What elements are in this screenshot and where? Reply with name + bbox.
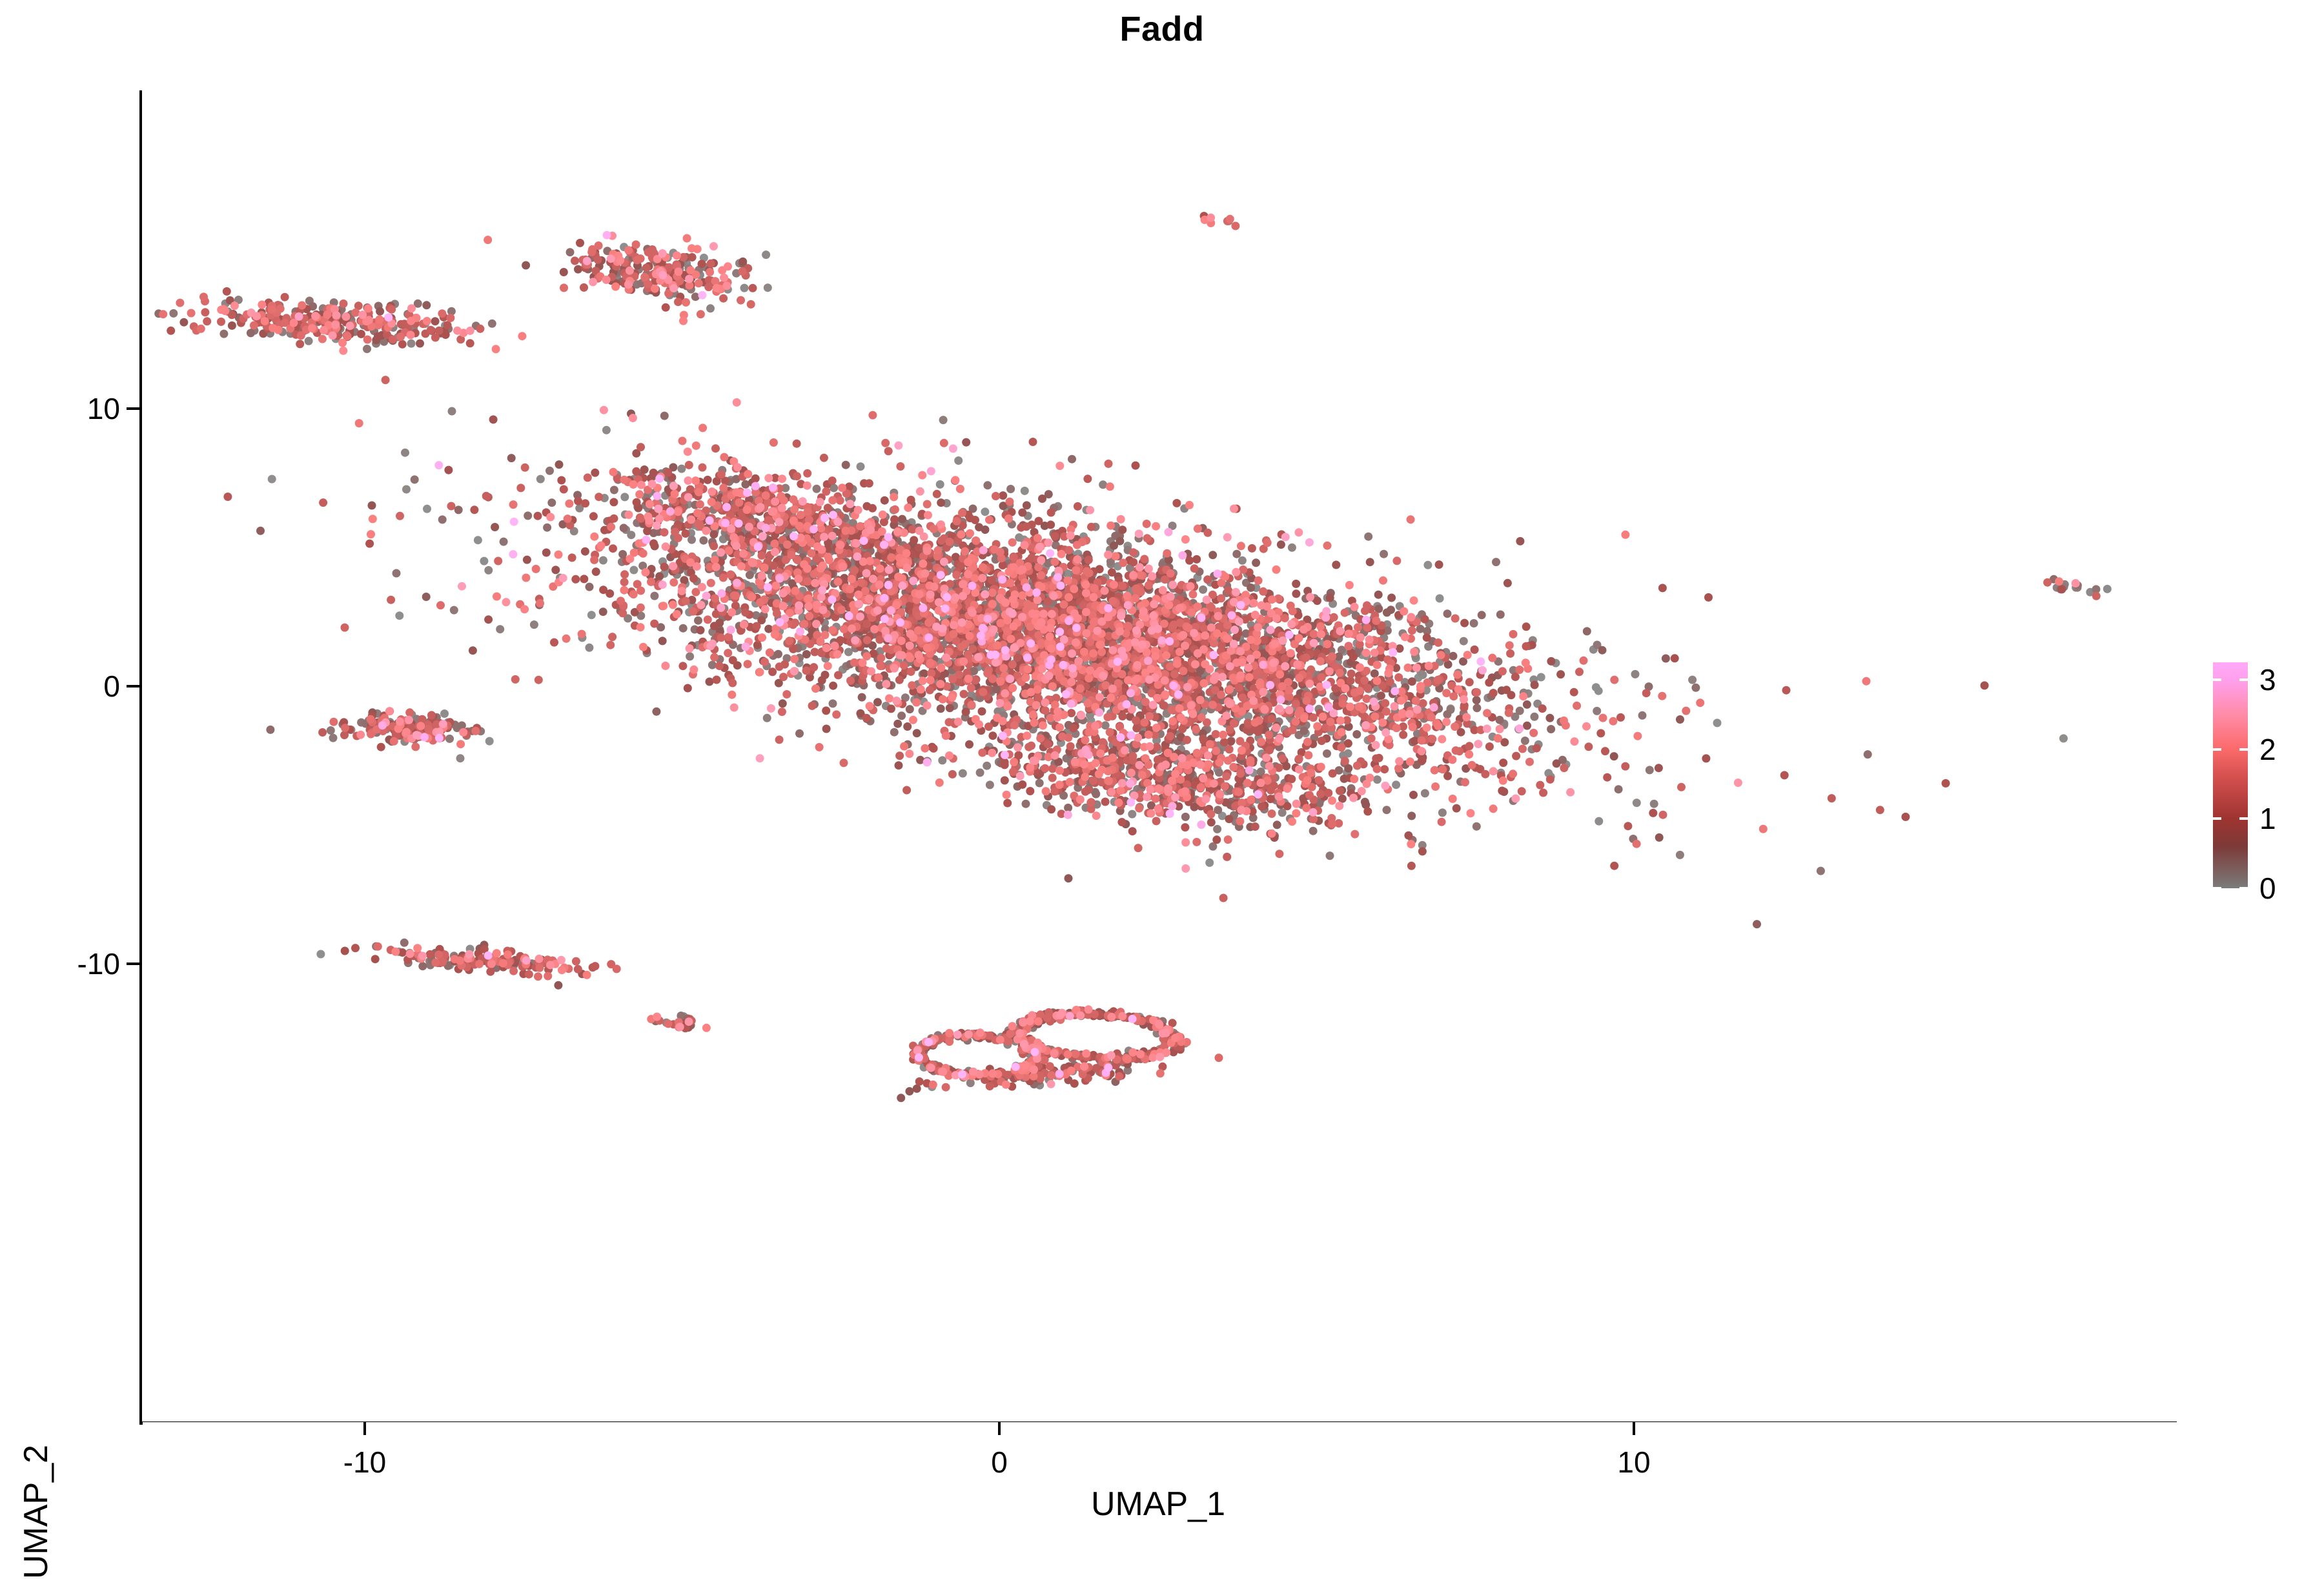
y-axis-title: UMAP_2 [17, 1445, 56, 1579]
legend-tick-mark [2213, 887, 2221, 890]
y-axis-tick-mark [127, 407, 139, 410]
x-axis-title: UMAP_1 [139, 1485, 2177, 1523]
umap-feature-plot: Fadd 100-10-10010 UMAP_1 UMAP_2 3210 [0, 0, 2324, 1549]
legend-tick-mark [2213, 817, 2221, 820]
x-axis-tick-label: 0 [991, 1445, 1008, 1480]
y-axis-tick-label: -10 [77, 946, 120, 981]
page-title: Fadd [0, 9, 2324, 49]
x-axis-tick-label: 10 [1617, 1445, 1650, 1480]
legend-colorbar [2213, 662, 2248, 888]
scatter-svg [142, 90, 2177, 1421]
legend-tick-mark [2213, 748, 2221, 751]
x-axis-tick-mark [1633, 1422, 1635, 1435]
legend-tick-mark [2213, 678, 2221, 681]
x-axis-tick-mark [998, 1422, 1001, 1435]
legend-tick-label: 3 [2259, 662, 2276, 697]
y-axis-tick-label: 0 [103, 669, 120, 704]
y-axis-tick-label: 10 [87, 391, 120, 426]
y-axis-tick-mark [127, 685, 139, 688]
legend-tick-mark [2239, 748, 2248, 751]
x-axis-tick-mark [363, 1422, 366, 1435]
legend-tick-label: 2 [2259, 732, 2276, 767]
legend-tick-mark [2239, 678, 2248, 681]
y-axis-tick-mark [127, 963, 139, 965]
color-legend: 3210 [2208, 652, 2318, 904]
legend-tick-mark [2239, 887, 2248, 890]
legend-tick-label: 1 [2259, 801, 2276, 836]
x-axis-tick-label: -10 [343, 1445, 386, 1480]
plot-panel [142, 90, 2177, 1421]
legend-tick-label: 0 [2259, 871, 2276, 906]
legend-tick-mark [2239, 817, 2248, 820]
scatter-points-layer [142, 90, 2177, 1421]
